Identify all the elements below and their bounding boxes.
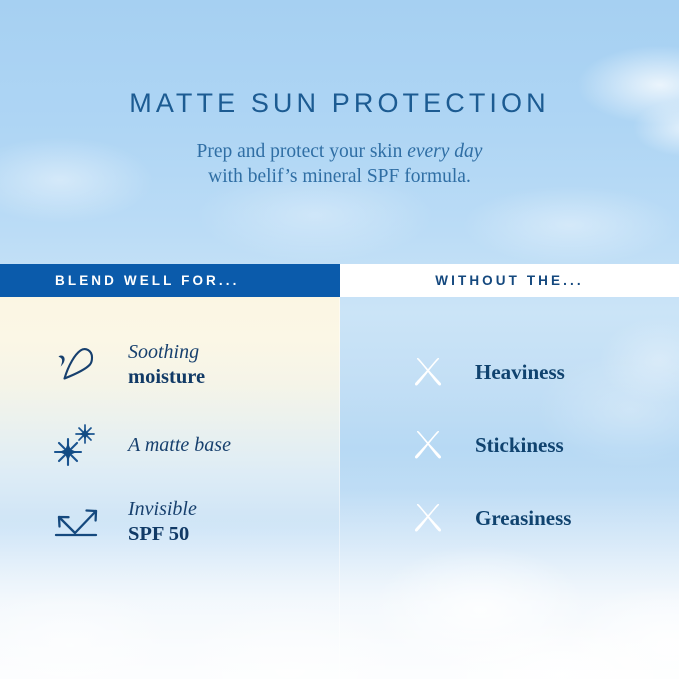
benefit-line-1: A matte base — [128, 433, 231, 458]
banner-right-label: WITHOUT THE... — [435, 273, 583, 288]
benefits-column: Soothing moisture — [0, 297, 340, 557]
matte-sun-protection-infographic: MATTE SUN PROTECTION Prep and protect yo… — [0, 0, 679, 679]
negative-label: Heaviness — [475, 359, 565, 385]
x-mark-icon — [408, 425, 448, 465]
benefit-line-1: Soothing — [128, 340, 205, 365]
page-title: MATTE SUN PROTECTION — [0, 88, 679, 119]
negative-item: Greasiness — [408, 493, 678, 543]
negative-item: Stickiness — [408, 420, 678, 470]
benefit-item: Invisible SPF 50 — [48, 490, 338, 554]
water-droplet-icon — [48, 336, 106, 394]
benefit-labels: A matte base — [128, 433, 231, 458]
benefit-line-1: Invisible — [128, 497, 197, 522]
benefit-line-2: SPF 50 — [128, 522, 197, 547]
subtitle-line1-emphasis: every day — [407, 141, 482, 162]
benefit-labels: Soothing moisture — [128, 340, 205, 390]
sparkle-stars-icon — [48, 416, 106, 474]
negative-label: Greasiness — [475, 505, 571, 531]
banner-row: BLEND WELL FOR... WITHOUT THE... — [0, 264, 679, 297]
negative-item: Heaviness — [408, 347, 678, 397]
negative-labels: Greasiness — [475, 505, 571, 531]
negatives-column: Heaviness Stickiness Greas — [340, 297, 679, 557]
benefit-item: Soothing moisture — [48, 333, 338, 397]
subtitle-line1-prefix: Prep and protect your skin — [197, 141, 408, 162]
benefit-labels: Invisible SPF 50 — [128, 497, 197, 547]
header-block: MATTE SUN PROTECTION Prep and protect yo… — [0, 88, 679, 189]
x-mark-icon — [408, 352, 448, 392]
benefit-line-2: moisture — [128, 365, 205, 390]
negative-label: Stickiness — [475, 432, 564, 458]
benefit-item: A matte base — [48, 413, 338, 477]
negative-labels: Stickiness — [475, 432, 564, 458]
x-mark-icon — [408, 498, 448, 538]
banner-left-label: BLEND WELL FOR... — [55, 273, 239, 288]
banner-blend-well-for: BLEND WELL FOR... — [0, 264, 340, 297]
subtitle-line2: with belif’s mineral SPF formula. — [208, 166, 471, 187]
page-subtitle: Prep and protect your skin every day wit… — [0, 139, 679, 189]
banner-without-the: WITHOUT THE... — [340, 264, 679, 297]
deflect-arrow-icon — [48, 493, 106, 551]
negative-labels: Heaviness — [475, 359, 565, 385]
